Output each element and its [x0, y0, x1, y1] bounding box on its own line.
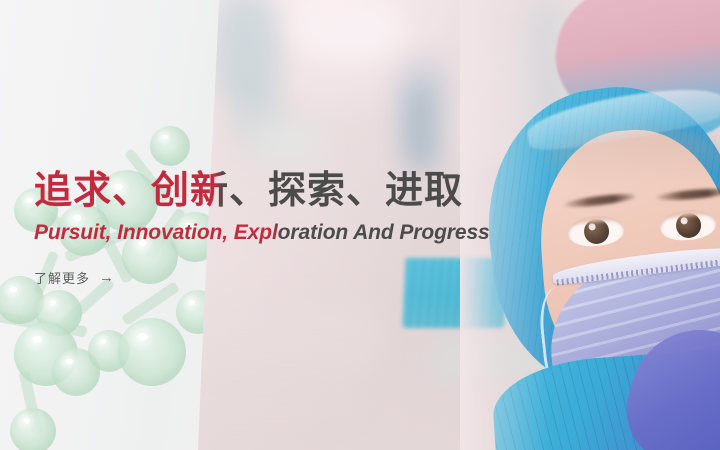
molecule-atom [150, 126, 190, 166]
hero-banner: 追求、创新、探索、进取 Pursuit, Innovation, Explora… [0, 0, 720, 450]
learn-more-link[interactable]: 了解更多 → [34, 268, 115, 287]
page-title: 追求、创新、探索、进取 [34, 168, 694, 214]
page-subtitle: Pursuit, Innovation, Exploration And Pro… [34, 220, 694, 246]
learn-more-label: 了解更多 [34, 268, 90, 287]
molecule-atom [118, 318, 186, 386]
arrow-right-icon: → [99, 270, 115, 285]
molecule-atom [176, 290, 220, 334]
molecule-atom [10, 408, 56, 450]
hero-content: 追求、创新、探索、进取 Pursuit, Innovation, Explora… [34, 168, 694, 288]
